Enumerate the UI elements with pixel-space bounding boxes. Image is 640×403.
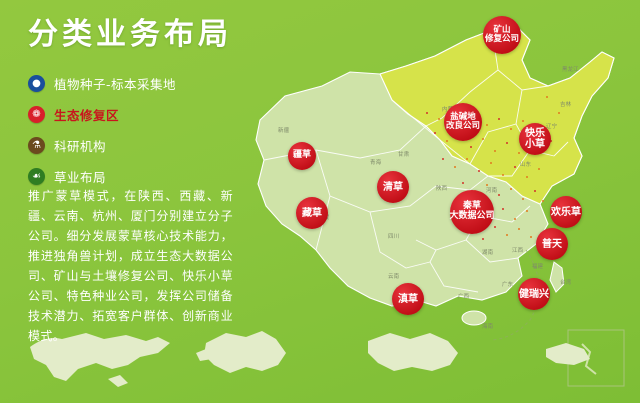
city-marker-dot xyxy=(502,174,504,176)
province-label: 湖南 xyxy=(482,248,493,256)
city-marker-dot xyxy=(478,170,480,172)
city-marker-dot xyxy=(486,124,488,126)
badge-line: 小草 xyxy=(525,139,545,150)
city-marker-dot xyxy=(442,158,444,160)
badge-jiang-grass[interactable]: 疆草 xyxy=(288,142,316,170)
badge-line: 快乐 xyxy=(525,128,545,139)
city-marker-dot xyxy=(438,118,440,120)
city-marker-dot xyxy=(462,182,464,184)
legend-item-2[interactable]: ❁生态修复区 xyxy=(28,101,248,127)
badge-huanle-grass[interactable]: 欢乐草 xyxy=(550,196,582,228)
province-label: 云南 xyxy=(388,272,399,280)
description-paragraph: 推广蒙草模式，在陕西、西藏、新疆、云南、杭州、厦门分别建立分子公司。细分发展蒙草… xyxy=(28,186,233,346)
city-marker-dot xyxy=(514,166,516,168)
badge-line: 藏草 xyxy=(302,208,322,219)
slide-root: 新疆西藏青海内蒙古黑龙江四川云南广西广东福建湖南江西山东河南陕西甘肃吉林辽宁海南… xyxy=(0,0,640,403)
legend-item-1[interactable]: ●植物种子-标本采集地 xyxy=(28,70,248,96)
seed-drop-icon: ● xyxy=(28,75,45,92)
city-marker-dot xyxy=(530,236,532,238)
province-label: 黑龙江 xyxy=(562,65,579,73)
province-label: 台湾 xyxy=(560,278,571,286)
badge-line: 滇草 xyxy=(398,294,418,305)
city-marker-dot xyxy=(446,140,448,142)
badge-line: 欢乐草 xyxy=(551,207,581,218)
province-label: 青海 xyxy=(370,158,381,166)
badge-saline-alkali[interactable]: 盐碱地改良公司 xyxy=(444,103,482,141)
badge-jianruixing[interactable]: 健瑞兴 xyxy=(518,278,550,310)
badge-line: 改良公司 xyxy=(446,122,480,131)
city-marker-dot xyxy=(534,190,536,192)
city-marker-dot xyxy=(510,128,512,130)
left-panel: 分类业务布局 ●植物种子-标本采集地❁生态修复区⚗科研机构☙草业布局 推广蒙草模… xyxy=(0,0,262,403)
eco-restoration-icon: ❁ xyxy=(28,106,45,123)
province-label: 山东 xyxy=(520,160,531,168)
city-marker-dot xyxy=(526,176,528,178)
microscope-icon: ⚗ xyxy=(28,137,45,154)
province-label: 新疆 xyxy=(278,126,289,134)
city-marker-dot xyxy=(482,238,484,240)
city-marker-dot xyxy=(542,200,544,202)
badge-line: 大数据公司 xyxy=(450,212,495,222)
province-label: 吉林 xyxy=(560,100,571,108)
badge-mining-restoration[interactable]: 矿山修复公司 xyxy=(483,16,521,54)
legend-item-label: 植物种子-标本采集地 xyxy=(54,74,176,93)
grass-icon: ☙ xyxy=(28,168,45,185)
legend-item-label: 草业布局 xyxy=(54,167,106,186)
badge-line: 健瑞兴 xyxy=(519,289,549,300)
province-label: 江西 xyxy=(512,246,523,254)
badge-qing-grass[interactable]: 清草 xyxy=(377,171,409,203)
island-shape-3 xyxy=(368,333,458,371)
city-marker-dot xyxy=(522,198,524,200)
city-marker-dot xyxy=(434,132,436,134)
province-label: 甘肃 xyxy=(398,150,409,158)
city-marker-dot xyxy=(426,112,428,114)
taiwan-island xyxy=(550,262,564,292)
badge-putian[interactable]: 普天 xyxy=(536,228,568,260)
city-marker-dot xyxy=(466,158,468,160)
province-label: 陕西 xyxy=(436,184,447,192)
city-marker-dot xyxy=(470,146,472,148)
page-title: 分类业务布局 xyxy=(28,18,232,51)
city-marker-dot xyxy=(514,218,516,220)
badge-happy-grass[interactable]: 快乐小草 xyxy=(519,123,551,155)
province-label: 河南 xyxy=(486,186,497,194)
city-marker-dot xyxy=(494,150,496,152)
badge-line: 修复公司 xyxy=(485,35,519,44)
city-marker-dot xyxy=(526,210,528,212)
city-marker-dot xyxy=(482,138,484,140)
city-marker-dot xyxy=(506,234,508,236)
province-label: 福建 xyxy=(532,262,543,270)
city-marker-dot xyxy=(498,194,500,196)
badge-line: 普天 xyxy=(542,239,562,250)
legend: ●植物种子-标本采集地❁生态修复区⚗科研机构☙草业布局 xyxy=(28,70,248,194)
province-label: 四川 xyxy=(388,232,399,240)
city-marker-dot xyxy=(558,112,560,114)
badge-line: 清草 xyxy=(383,182,403,193)
city-marker-dot xyxy=(546,96,548,98)
city-marker-dot xyxy=(502,208,504,210)
city-marker-dot xyxy=(454,166,456,168)
city-marker-dot xyxy=(522,120,524,122)
city-marker-dot xyxy=(538,168,540,170)
legend-item-label: 生态修复区 xyxy=(54,105,119,124)
badge-zang-grass[interactable]: 藏草 xyxy=(296,197,328,229)
island-shape-4 xyxy=(546,343,590,365)
badge-dian-grass[interactable]: 滇草 xyxy=(392,283,424,315)
city-marker-dot xyxy=(506,142,508,144)
city-marker-dot xyxy=(518,228,520,230)
city-marker-dot xyxy=(518,152,520,154)
city-marker-dot xyxy=(498,118,500,120)
city-marker-dot xyxy=(494,226,496,228)
legend-item-label: 科研机构 xyxy=(54,136,106,155)
badge-qin-grass[interactable]: 秦草大数据公司 xyxy=(450,190,494,234)
city-marker-dot xyxy=(510,188,512,190)
legend-item-3[interactable]: ⚗科研机构 xyxy=(28,132,248,158)
city-marker-dot xyxy=(490,162,492,164)
province-label: 广西 xyxy=(458,292,469,300)
badge-line: 疆草 xyxy=(293,151,311,161)
province-label: 广东 xyxy=(502,280,513,288)
